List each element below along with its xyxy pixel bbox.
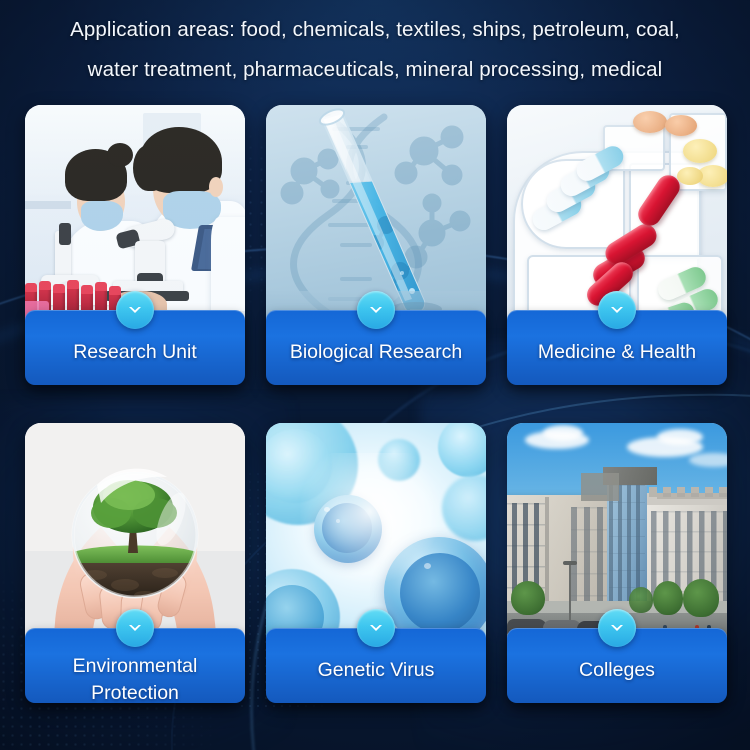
chevron-down-icon bbox=[366, 618, 386, 638]
header-line-2: water treatment, pharmaceuticals, minera… bbox=[88, 50, 663, 90]
chevron-down-badge-environmental-protection[interactable] bbox=[116, 609, 154, 647]
application-areas-header: Application areas: food, chemicals, text… bbox=[0, 0, 750, 100]
card-genetic-virus[interactable]: Genetic Virus bbox=[266, 423, 486, 703]
chevron-down-badge-genetic-virus[interactable] bbox=[357, 609, 395, 647]
card-biological-research[interactable]: Biological Research bbox=[266, 105, 486, 385]
card-label-medicine-health: Medicine & Health bbox=[538, 339, 696, 366]
chevron-down-badge-medicine-health[interactable] bbox=[598, 291, 636, 329]
card-label-genetic-virus: Genetic Virus bbox=[318, 657, 435, 684]
header-line-1: Application areas: food, chemicals, text… bbox=[70, 10, 680, 50]
card-label-colleges: Colleges bbox=[579, 657, 655, 684]
chevron-down-icon bbox=[607, 300, 627, 320]
chevron-down-icon bbox=[125, 618, 145, 638]
card-research-unit[interactable]: Research Unit bbox=[25, 105, 245, 385]
card-label-research-unit: Research Unit bbox=[73, 339, 197, 366]
card-medicine-health[interactable]: Medicine & Health bbox=[507, 105, 727, 385]
chevron-down-badge-colleges[interactable] bbox=[598, 609, 636, 647]
chevron-down-icon bbox=[366, 300, 386, 320]
card-label-biological-research: Biological Research bbox=[290, 339, 462, 366]
card-environmental-protection[interactable]: Environmental Protection bbox=[25, 423, 245, 703]
chevron-down-icon bbox=[125, 300, 145, 320]
chevron-down-badge-research-unit[interactable] bbox=[116, 291, 154, 329]
chevron-down-icon bbox=[607, 618, 627, 638]
card-colleges[interactable]: Colleges bbox=[507, 423, 727, 703]
card-label-environmental-protection: Environmental Protection bbox=[73, 653, 198, 707]
application-area-card-grid: Research Unit bbox=[25, 105, 727, 703]
chevron-down-badge-biological-research[interactable] bbox=[357, 291, 395, 329]
